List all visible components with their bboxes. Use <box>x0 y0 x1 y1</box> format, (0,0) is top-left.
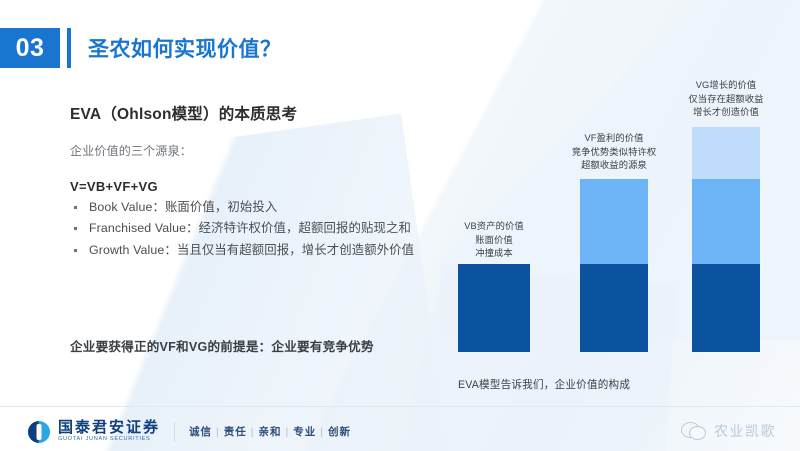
slogan-separator: | <box>251 426 255 438</box>
wechat-icon <box>681 422 707 440</box>
segment-vb <box>692 264 760 352</box>
brand-name-block: 国泰君安证券 GUOTAI JUNAN SECURITIES <box>58 420 160 443</box>
slogan-word: 创新 <box>328 426 351 438</box>
bar-column-vb-vf: VF盈利的价值 竞争优势类似特许权 超额收益的源泉 <box>580 179 648 352</box>
footer-vertical-divider <box>174 422 175 442</box>
wechat-bubble-front <box>689 426 706 440</box>
footer-divider <box>0 406 800 407</box>
bar-label-line: 竞争优势类似特许权 <box>572 146 657 159</box>
brand-name-en: GUOTAI JUNAN SECURITIES <box>58 437 160 443</box>
list-item: Growth Value：当且仅当有超额回报，增长才创造额外价值 <box>70 241 430 259</box>
bar-stack <box>580 179 648 352</box>
chart-caption: EVA模型告诉我们，企业价值的构成 <box>458 377 630 392</box>
segment-vg <box>692 127 760 179</box>
page-title: 圣农如何实现价值？ <box>88 33 282 63</box>
list-item: Franchised Value：经济特许权价值，超额回报的贴现之和 <box>70 219 430 237</box>
bar-label-vg: VG增长的价值 仅当存在超额收益 增长才创造价值 <box>688 79 763 119</box>
eva-subline: 企业价值的三个源泉： <box>70 142 430 159</box>
slide-header: 03 圣农如何实现价值？ <box>0 28 282 68</box>
eva-stacked-bar-chart: VB资产的价值 账面价值 冲撞成本 VF盈利的价值 竞争优势类似特许权 超额收益… <box>440 80 780 400</box>
closing-statement: 企业要获得正的VF和VG的前提是：企业要有竞争优势 <box>70 336 470 355</box>
eva-heading: EVA（Ohlson模型）的本质思考 <box>70 102 430 124</box>
slogan-separator: | <box>285 426 289 438</box>
bar-label-line: 冲撞成本 <box>464 247 524 260</box>
brand-slogan: 诚信|责任|亲和|专业|创新 <box>189 424 351 439</box>
bar-label-line: VF盈利的价值 <box>572 132 657 145</box>
bar-label-vb: VB资产的价值 账面价值 冲撞成本 <box>464 220 524 260</box>
section-number-badge: 03 <box>0 28 60 68</box>
slogan-word: 责任 <box>224 426 247 438</box>
wechat-watermark: 农业凯歌 <box>681 421 776 441</box>
watermark-text: 农业凯歌 <box>714 421 776 441</box>
list-item: Book Value：账面价值，初始投入 <box>70 198 430 216</box>
bar-column-vb-vf-vg: VG增长的价值 仅当存在超额收益 增长才创造价值 <box>692 127 760 352</box>
segment-vf <box>692 179 760 264</box>
bar-column-vb: VB资产的价值 账面价值 冲撞成本 <box>458 264 530 352</box>
segment-vb <box>580 264 648 352</box>
slogan-word: 专业 <box>293 426 316 438</box>
segment-vb <box>458 264 530 352</box>
bar-label-line: VB资产的价值 <box>464 220 524 233</box>
guotai-junan-logo-icon <box>28 421 50 443</box>
slogan-word: 亲和 <box>258 426 281 438</box>
slide-canvas: 03 圣农如何实现价值？ EVA（Ohlson模型）的本质思考 企业价值的三个源… <box>0 0 800 451</box>
brand-name-cn: 国泰君安证券 <box>58 420 160 435</box>
slogan-word: 诚信 <box>189 426 212 438</box>
value-source-list: Book Value：账面价值，初始投入 Franchised Value：经济… <box>70 198 430 259</box>
bar-label-line: 增长才创造价值 <box>688 106 763 119</box>
bar-stack <box>692 127 760 352</box>
slogan-separator: | <box>320 426 324 438</box>
content-body: EVA（Ohlson模型）的本质思考 企业价值的三个源泉： V=VB+VF+VG… <box>70 102 430 259</box>
value-formula: V=VB+VF+VG <box>70 179 430 194</box>
bar-label-line: 超额收益的源泉 <box>572 159 657 172</box>
bar-label-line: 仅当存在超额收益 <box>688 93 763 106</box>
bar-label-line: VG增长的价值 <box>688 79 763 92</box>
header-accent-bar <box>67 28 71 68</box>
bar-stack <box>458 264 530 352</box>
slogan-separator: | <box>216 426 220 438</box>
footer-brand: 国泰君安证券 GUOTAI JUNAN SECURITIES 诚信|责任|亲和|… <box>28 420 351 443</box>
bar-label-line: 账面价值 <box>464 234 524 247</box>
bar-label-vf: VF盈利的价值 竞争优势类似特许权 超额收益的源泉 <box>572 132 657 172</box>
segment-vf <box>580 179 648 264</box>
